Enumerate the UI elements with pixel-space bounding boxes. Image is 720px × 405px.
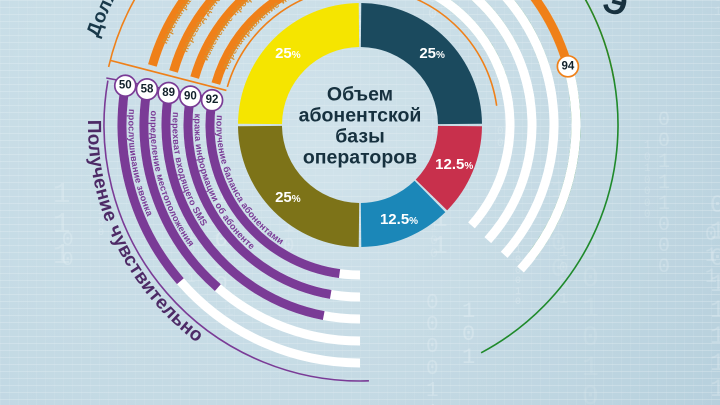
center-line: абонентской [299, 105, 422, 127]
badge-value: 50 [119, 80, 132, 92]
infographic-svg: 25%12.5%12.5%25%25% Объемабонентскойбазы… [0, 0, 720, 405]
badge-value: 58 [141, 83, 154, 95]
badge-purple-3: 58 [136, 79, 157, 100]
center-line: операторов [303, 147, 417, 169]
infographic-canvas: 1 1 1 0 1 0 0 1 0 0 1 0 1 0 1 1 0 0 0 1 … [0, 0, 720, 405]
badge-purple-0: 92 [202, 90, 223, 111]
badge-value: 92 [206, 94, 219, 106]
badge-purple-2: 89 [158, 82, 179, 103]
badge-purple-1: 90 [180, 86, 201, 107]
badge-value: 94 [561, 60, 574, 72]
badge-value: 90 [184, 91, 197, 103]
center-line: базы [335, 126, 384, 148]
center-line: Объем [327, 84, 393, 106]
center-label: Объемабонентскойбазыоператоров [299, 84, 422, 169]
badge-orange-3: 94 [557, 56, 578, 77]
badge-purple-4: 50 [115, 75, 136, 96]
white-track-arcs [122, 0, 576, 363]
badge-value: 89 [162, 87, 175, 99]
